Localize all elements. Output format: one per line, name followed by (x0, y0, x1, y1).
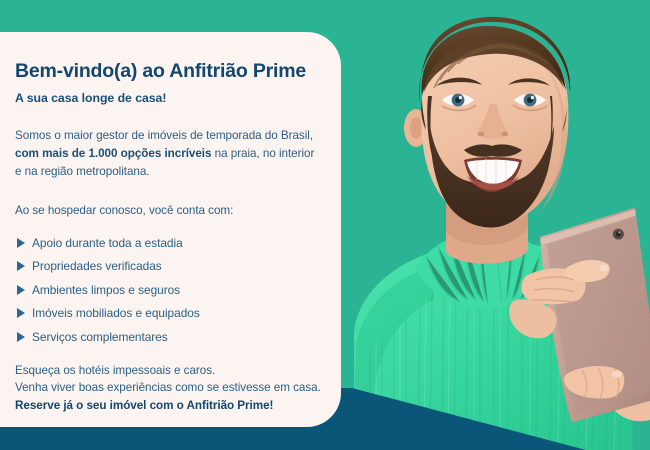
triangle-right-icon (17, 308, 25, 318)
benefits-list: Apoio durante toda a estadia Propriedade… (15, 236, 323, 344)
benefit-label: Imóveis mobiliados e equipados (32, 306, 200, 320)
benefit-label: Ambientes limpos e seguros (32, 283, 180, 297)
card-subtitle: A sua casa longe de casa! (15, 91, 323, 105)
benefit-label: Propriedades verificadas (32, 259, 162, 273)
triangle-right-icon (17, 285, 25, 295)
welcome-card: Bem-vindo(a) ao Anfitrião Prime A sua ca… (0, 32, 341, 427)
benefit-label: Apoio durante toda a estadia (32, 236, 183, 250)
triangle-right-icon (17, 238, 25, 248)
mustache (464, 144, 522, 156)
list-item: Apoio durante toda a estadia (15, 236, 323, 250)
list-item: Serviços complementares (15, 330, 323, 344)
page-title: Bem-vindo(a) ao Anfitrião Prime (15, 60, 323, 82)
closing-line1: Esqueça os hotéis impessoais e caros. (15, 364, 215, 377)
intro-highlight: com mais de 1.000 opções incríveis (15, 147, 211, 160)
list-item: Propriedades verificadas (15, 259, 323, 273)
benefits-intro: Ao se hospedar conosco, você conta com: (15, 202, 323, 220)
list-item: Ambientes limpos e seguros (15, 283, 323, 297)
promo-banner: Bem-vindo(a) ao Anfitrião Prime A sua ca… (0, 0, 650, 450)
cta-text: Reserve já o seu imóvel com o Anfitrião … (15, 399, 273, 412)
intro-paragraph: Somos o maior gestor de imóveis de tempo… (15, 127, 323, 180)
closing-paragraph: Esqueça os hotéis impessoais e caros.Ven… (15, 362, 323, 415)
benefit-label: Serviços complementares (32, 330, 168, 344)
host-photo (330, 0, 650, 450)
list-item: Imóveis mobiliados e equipados (15, 306, 323, 320)
triangle-right-icon (17, 261, 25, 271)
intro-part1: Somos o maior gestor de imóveis de tempo… (15, 129, 313, 142)
triangle-right-icon (17, 332, 25, 342)
closing-line2: Venha viver boas experiências como se es… (15, 381, 321, 394)
